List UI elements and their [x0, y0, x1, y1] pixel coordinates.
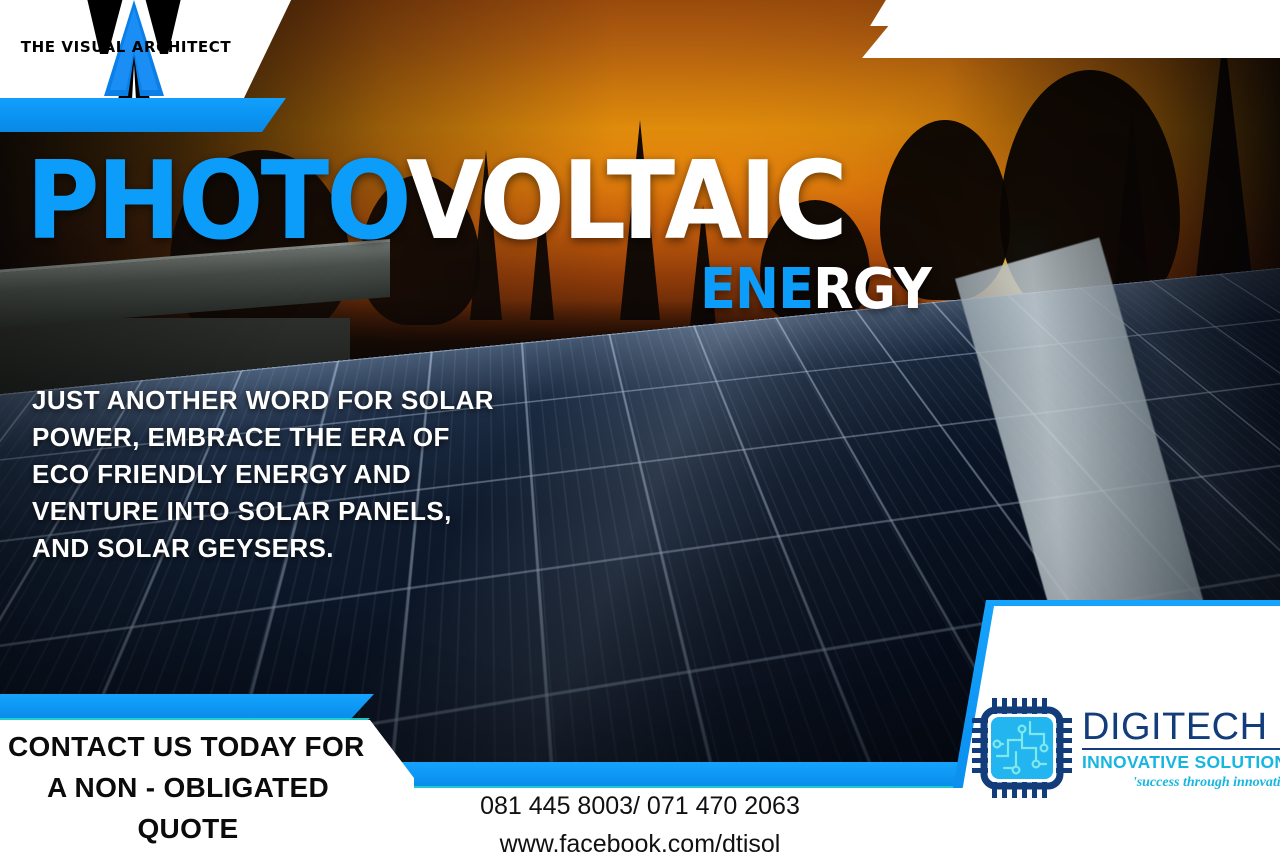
- cta-line: A NON - OBLIGATED: [0, 767, 376, 808]
- subtitle-part-ene: ENE: [700, 257, 813, 322]
- company-subtitle: INNOVATIVE SOLUTIONS: [1082, 754, 1280, 772]
- cta-block: CONTACT US TODAY FOR A NON - OBLIGATED Q…: [0, 726, 376, 849]
- top-left-white-banner: THE VISUAL ARCHITECT: [0, 0, 294, 98]
- top-right-white-banner: [866, 0, 1280, 26]
- company-tagline: 'success through innovation': [1082, 776, 1280, 790]
- poster-canvas: THE VISUAL ARCHITECT PHOTOVOLTAIC ENERGY…: [0, 0, 1280, 857]
- company-logo[interactable]: DIGITECH INNOVATIVE SOLUTIONS 'success t…: [970, 688, 1270, 808]
- top-right-white-banner-lower: [846, 24, 1280, 58]
- agency-logo-text: THE VISUAL ARCHITECT: [19, 38, 232, 56]
- body-copy-line: ECO FRIENDLY ENERGY AND: [32, 456, 552, 493]
- title-part-photo: PHOTO: [26, 139, 406, 264]
- facebook-url[interactable]: www.facebook.com/dtisol: [360, 825, 920, 857]
- contact-details: 081 445 8003/ 071 470 2063 www.facebook.…: [360, 787, 920, 857]
- top-left-blue-bar: [0, 98, 286, 132]
- company-name: DIGITECH: [1082, 708, 1280, 750]
- bottom-left-blue-bar: [0, 694, 374, 720]
- page-title: PHOTOVOLTAIC: [26, 152, 919, 252]
- subtitle-part-rgy: RGY: [813, 257, 931, 322]
- cta-line: QUOTE: [0, 808, 376, 849]
- body-copy-line: JUST ANOTHER WORD FOR SOLAR: [32, 382, 552, 419]
- company-logo-text: DIGITECH INNOVATIVE SOLUTIONS 'success t…: [1082, 706, 1280, 790]
- microchip-icon: [970, 696, 1074, 800]
- body-copy-line: POWER, EMBRACE THE ERA OF: [32, 419, 552, 456]
- body-copy: JUST ANOTHER WORD FOR SOLAR POWER, EMBRA…: [32, 382, 552, 567]
- body-copy-line: AND SOLAR GEYSERS.: [32, 530, 552, 567]
- phone-numbers[interactable]: 081 445 8003/ 071 470 2063: [360, 787, 920, 825]
- cta-line: CONTACT US TODAY FOR: [0, 726, 376, 767]
- title-part-voltaic: VOLTAIC: [406, 139, 845, 264]
- agency-logo[interactable]: THE VISUAL ARCHITECT: [0, 0, 294, 98]
- body-copy-line: VENTURE INTO SOLAR PANELS,: [32, 493, 552, 530]
- page-subtitle: ENERGY: [700, 262, 931, 318]
